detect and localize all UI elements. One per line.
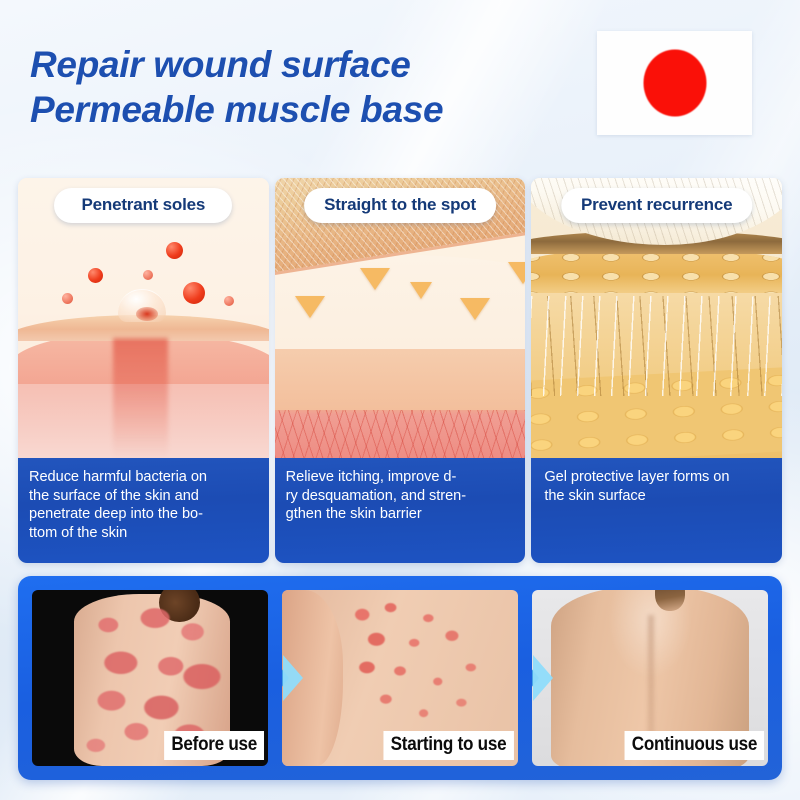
feature-card-row: Penetrant soles Reduce harmful bacteria … xyxy=(18,178,782,563)
progression-photo-before-use: Before use xyxy=(32,590,268,766)
bacteria-dot-icon xyxy=(224,296,234,306)
feature-caption: Reduce harmful bacteria on the surface o… xyxy=(18,458,269,563)
progression-photo-starting-to-use: Starting to use xyxy=(282,590,518,766)
feature-pill-label: Prevent recurrence xyxy=(561,188,752,223)
bacteria-dot-icon xyxy=(62,293,73,304)
penetration-triangle-icon xyxy=(508,262,526,284)
penetration-triangle-icon xyxy=(360,268,390,290)
feature-card-penetrant-soles[interactable]: Penetrant soles Reduce harmful bacteria … xyxy=(18,178,269,563)
feature-pill-label: Straight to the spot xyxy=(304,188,496,223)
feature-pill-label: Penetrant soles xyxy=(54,188,232,223)
headline-line-2: Permeable muscle base xyxy=(30,89,443,130)
page-title: Repair wound surface Permeable muscle ba… xyxy=(30,42,443,132)
feature-card-prevent-recurrence[interactable]: Prevent recurrence Gel protective layer … xyxy=(531,178,782,563)
feature-card-straight-to-the-spot[interactable]: Straight to the spot Relieve itching, im… xyxy=(275,178,526,563)
header: Repair wound surface Permeable muscle ba… xyxy=(0,0,800,168)
penetration-triangle-icon xyxy=(295,296,325,318)
headline-line-1: Repair wound surface xyxy=(30,44,411,85)
penetration-triangle-icon xyxy=(460,298,490,320)
bacteria-dot-icon xyxy=(183,282,205,304)
penetration-triangle-icon xyxy=(410,282,432,299)
progression-panel: Before use Starting to use Continuous us… xyxy=(18,576,782,780)
progression-photo-label: Continuous use xyxy=(624,731,764,760)
progression-photo-label: Before use xyxy=(164,731,264,760)
japan-flag-disc-icon xyxy=(643,50,706,117)
japan-flag xyxy=(597,31,752,135)
feature-caption: Gel protective layer forms on the skin s… xyxy=(531,458,782,563)
progression-photo-continuous-use: Continuous use xyxy=(532,590,768,766)
bacteria-dot-icon xyxy=(88,268,103,283)
feature-caption: Relieve itching, improve d- ry desquamat… xyxy=(275,458,526,563)
progression-photo-label: Starting to use xyxy=(384,731,514,760)
